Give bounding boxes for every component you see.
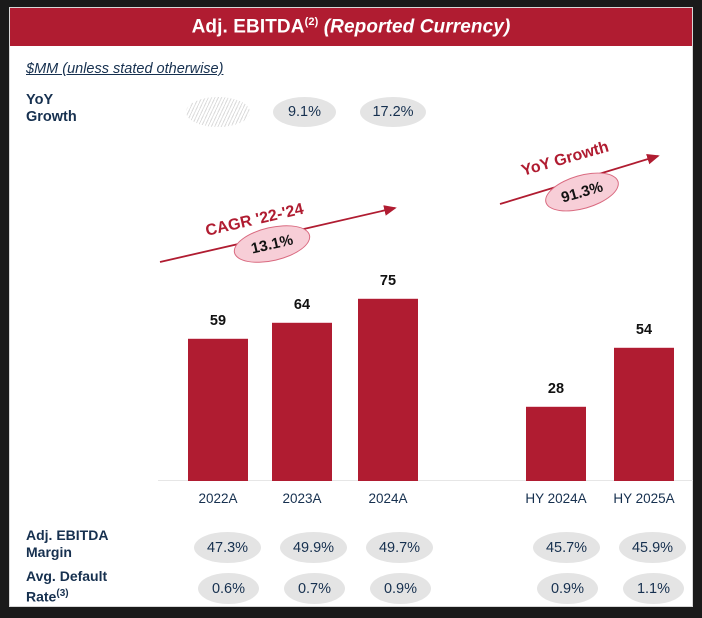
header-title-main: Adj. EBITDA: [192, 16, 305, 37]
margin-label-line1: Adj. EBITDA: [26, 527, 156, 544]
yoy-callout-value: 91.3%: [541, 165, 623, 219]
default-label-footnote: (3): [56, 588, 68, 599]
chart-card: Adj. EBITDA(2) (Reported Currency) $MM (…: [10, 8, 692, 606]
yoy-growth-row-label: YoY Growth: [26, 92, 146, 126]
default-pill-2024a: 0.9%: [370, 573, 431, 604]
margin-pill-2022a: 47.3%: [194, 532, 261, 563]
default-label-line1: Avg. Default: [26, 568, 156, 585]
yoy-pill-2024a: 17.2%: [360, 97, 426, 127]
default-pill-2022a: 0.6%: [198, 573, 259, 604]
yoy-callout-label: YoY Growth: [520, 139, 612, 181]
axis-label-hy-2025a: HY 2025A: [594, 491, 694, 506]
header-title-footnote: (2): [305, 16, 319, 28]
yoy-arrow-line: [500, 156, 658, 204]
default-label-line2-wrap: Rate(3): [26, 585, 156, 606]
default-rate-row-label: Avg. Default Rate(3): [26, 568, 156, 606]
units-subtitle: $MM (unless stated otherwise): [26, 61, 223, 77]
bar-value-hy-2024a: 28: [526, 381, 586, 397]
axis-label-hy-2024a: HY 2024A: [506, 491, 606, 506]
default-label-line2: Rate: [26, 589, 56, 605]
header-title-suffix: (Reported Currency): [324, 16, 511, 37]
yoy-pill-2022a: [186, 97, 250, 127]
margin-pill-hy-2024a: 45.7%: [533, 532, 600, 563]
margin-pill-2023a: 49.9%: [280, 532, 347, 563]
bar-hy-2025a: [614, 347, 674, 481]
bar-value-2024a: 75: [358, 273, 418, 289]
margin-pill-2024a: 49.7%: [366, 532, 433, 563]
axis-label-2022a: 2022A: [178, 491, 258, 506]
default-pill-2023a: 0.7%: [284, 573, 345, 604]
bar-2024a: [358, 298, 418, 481]
bar-2022a: [188, 338, 248, 481]
margin-label-line2: Margin: [26, 544, 156, 561]
axis-label-2024a: 2024A: [348, 491, 428, 506]
default-pill-hy-2025a: 1.1%: [623, 573, 684, 604]
bar-hy-2024a: [526, 406, 586, 481]
bar-value-2023a: 64: [272, 297, 332, 313]
cagr-callout-label: CAGR '22-'24: [204, 201, 306, 241]
yoy-pill-2023a: 9.1%: [273, 97, 336, 127]
axis-label-2023a: 2023A: [262, 491, 342, 506]
chart-header-bar: Adj. EBITDA(2) (Reported Currency): [10, 8, 692, 46]
yoy-growth-label-line2: Growth: [26, 109, 146, 126]
bar-value-hy-2025a: 54: [614, 322, 674, 338]
margin-pill-hy-2025a: 45.9%: [619, 532, 686, 563]
margin-row-label: Adj. EBITDA Margin: [26, 527, 156, 561]
bar-2023a: [272, 322, 332, 481]
cagr-callout-value: 13.1%: [230, 219, 314, 270]
cagr-arrow-line: [160, 208, 395, 262]
default-pill-hy-2024a: 0.9%: [537, 573, 598, 604]
bar-value-2022a: 59: [188, 313, 248, 329]
yoy-growth-label-line1: YoY: [26, 92, 146, 109]
slide-background: Adj. EBITDA(2) (Reported Currency) $MM (…: [0, 0, 702, 618]
page-title: Adj. EBITDA(2) (Reported Currency): [192, 16, 511, 38]
